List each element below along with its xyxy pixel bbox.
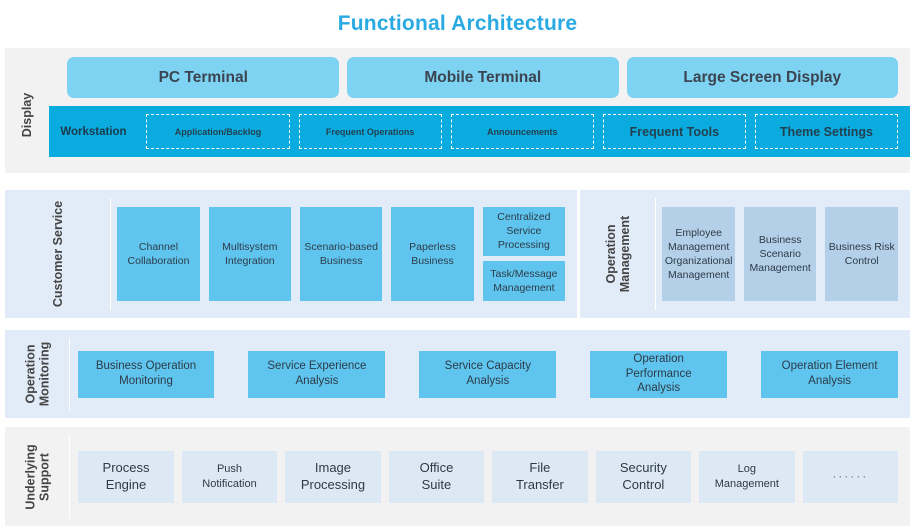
card-more-ellipsis[interactable]: ······ xyxy=(803,451,898,503)
customer-service-label-text: Customer Service xyxy=(51,201,65,307)
workstation-strip: Workstation Application/Backlog Frequent… xyxy=(49,106,910,157)
operation-management-body: Employee Management Organizational Manag… xyxy=(656,190,910,318)
operation-monitoring-body: Business Operation Monitoring Service Ex… xyxy=(70,330,910,418)
workstation-item-theme-settings[interactable]: Theme Settings xyxy=(755,114,898,149)
card-task-message-management[interactable]: Task/Message Management xyxy=(483,261,565,301)
terminal-row: PC Terminal Mobile Terminal Large Screen… xyxy=(49,57,910,98)
card-channel-collaboration[interactable]: Channel Collaboration xyxy=(117,207,199,301)
card-paperless-business[interactable]: Paperless Business xyxy=(391,207,473,301)
operation-management-section-label: Operation Management xyxy=(580,190,656,318)
display-section: Display PC Terminal Mobile Terminal Larg… xyxy=(5,48,910,173)
operation-management-card-row: Employee Management Organizational Manag… xyxy=(656,190,910,318)
customer-service-card-row: Channel Collaboration Multisystem Integr… xyxy=(111,190,577,318)
page-title: Functional Architecture xyxy=(0,0,915,48)
card-centralized-service-processing[interactable]: Centralized Service Processing xyxy=(483,207,565,256)
workstation-title: Workstation xyxy=(49,126,137,138)
operation-monitoring-label-text: Operation Monitoring xyxy=(23,342,51,407)
card-operation-element-analysis[interactable]: Operation Element Analysis xyxy=(761,351,898,398)
display-section-label: Display xyxy=(5,57,49,173)
card-file-transfer[interactable]: File Transfer xyxy=(492,451,587,503)
underlying-support-label-text: Underlying Support xyxy=(24,444,52,509)
card-operation-performance-analysis[interactable]: Operation Performance Analysis xyxy=(590,351,727,398)
card-business-scenario-management[interactable]: Business Scenario Management xyxy=(744,207,817,301)
terminal-pc[interactable]: PC Terminal xyxy=(67,57,339,98)
card-business-risk-control[interactable]: Business Risk Control xyxy=(825,207,898,301)
card-service-experience-analysis[interactable]: Service Experience Analysis xyxy=(248,351,385,398)
operation-monitoring-card-row: Business Operation Monitoring Service Ex… xyxy=(70,330,910,418)
underlying-support-section: Underlying Support Process Engine Push N… xyxy=(5,427,910,526)
customer-service-section-label: Customer Service xyxy=(5,190,111,318)
operation-monitoring-section: Operation Monitoring Business Operation … xyxy=(5,330,910,418)
card-business-operation-monitoring[interactable]: Business Operation Monitoring xyxy=(78,351,215,398)
card-service-capacity-analysis[interactable]: Service Capacity Analysis xyxy=(419,351,556,398)
display-label-text: Display xyxy=(20,93,34,137)
card-process-engine[interactable]: Process Engine xyxy=(78,451,173,503)
operation-management-section: Operation Management Employee Management… xyxy=(580,190,910,318)
card-multisystem-integration[interactable]: Multisystem Integration xyxy=(209,207,291,301)
card-image-processing[interactable]: Image Processing xyxy=(285,451,380,503)
display-body: PC Terminal Mobile Terminal Large Screen… xyxy=(49,57,910,173)
workstation-item-announcements[interactable]: Announcements xyxy=(451,114,594,149)
customer-service-stacked-cards: Centralized Service Processing Task/Mess… xyxy=(483,207,565,301)
card-office-suite[interactable]: Office Suite xyxy=(389,451,484,503)
underlying-support-card-row: Process Engine Push Notification Image P… xyxy=(70,427,910,526)
workstation-item-frequent-operations[interactable]: Frequent Operations xyxy=(299,114,442,149)
card-security-control[interactable]: Security Control xyxy=(596,451,691,503)
card-push-notification[interactable]: Push Notification xyxy=(182,451,277,503)
operation-monitoring-section-label: Operation Monitoring xyxy=(5,330,70,418)
underlying-support-section-label: Underlying Support xyxy=(5,427,70,526)
terminal-mobile[interactable]: Mobile Terminal xyxy=(347,57,619,98)
workstation-item-application-backlog[interactable]: Application/Backlog xyxy=(146,114,289,149)
terminal-large-screen[interactable]: Large Screen Display xyxy=(627,57,899,98)
card-employee-management[interactable]: Employee Management Organizational Manag… xyxy=(662,207,735,301)
operation-management-label-text: Operation Management xyxy=(604,216,632,292)
customer-service-section: Customer Service Channel Collaboration M… xyxy=(5,190,577,318)
card-log-management[interactable]: Log Management xyxy=(699,451,794,503)
workstation-item-frequent-tools[interactable]: Frequent Tools xyxy=(603,114,746,149)
underlying-support-body: Process Engine Push Notification Image P… xyxy=(70,427,910,526)
card-scenario-based-business[interactable]: Scenario-based Business xyxy=(300,207,382,301)
customer-service-body: Channel Collaboration Multisystem Integr… xyxy=(111,190,577,318)
